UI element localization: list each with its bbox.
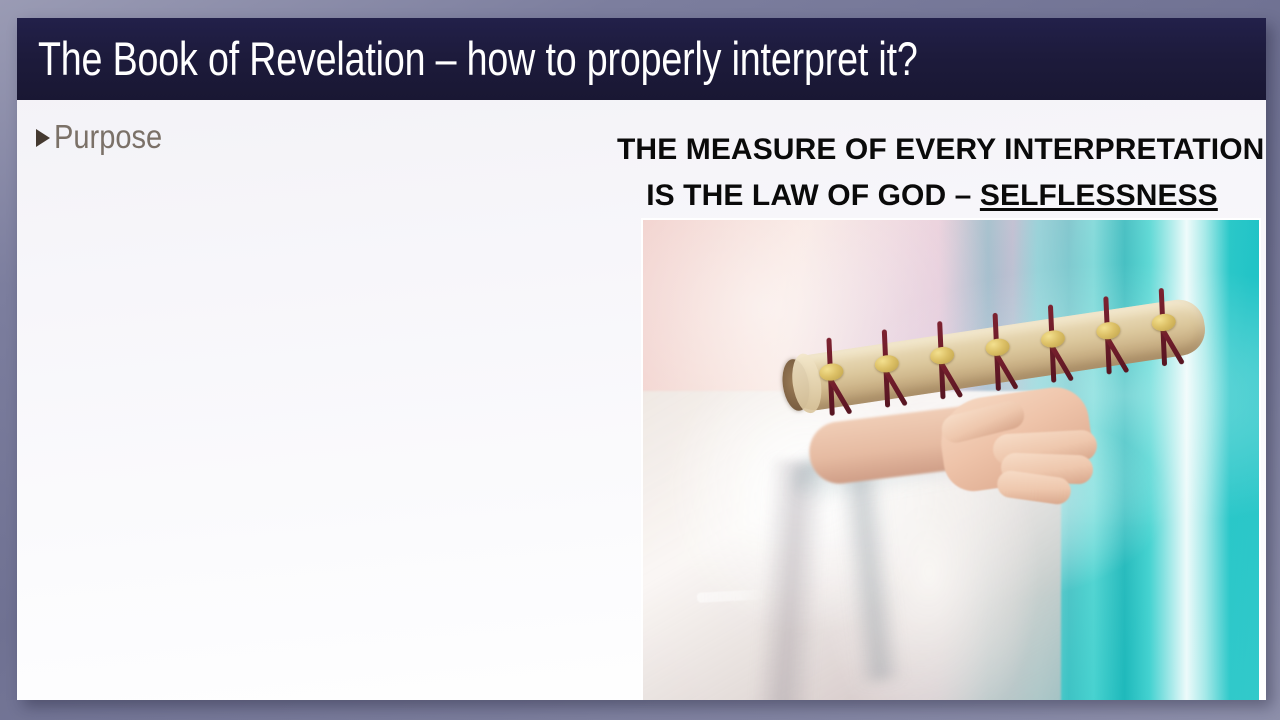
measure-heading-line-2: IS THE LAW OF GOD – SELFLESSNESS bbox=[617, 173, 1247, 219]
slide-canvas: The Book of Revelation – how to properly… bbox=[17, 18, 1266, 700]
presentation-backdrop: The Book of Revelation – how to properly… bbox=[0, 0, 1280, 720]
measure-heading-line-1: THE MEASURE OF EVERY INTERPRETATION bbox=[617, 127, 1247, 173]
bullet-item-label: Purpose bbox=[54, 118, 162, 156]
slide-title-bar: The Book of Revelation – how to properly… bbox=[17, 18, 1266, 100]
measure-heading-line-2-prefix: IS THE LAW OF GOD – bbox=[646, 179, 980, 212]
measure-heading-emphasis: SELFLESSNESS bbox=[980, 179, 1218, 212]
list-item: Purpose bbox=[36, 118, 616, 156]
bullet-list: Purpose bbox=[36, 118, 616, 166]
artwork-image bbox=[641, 218, 1261, 700]
page-title: The Book of Revelation – how to properly… bbox=[38, 24, 918, 94]
measure-heading: THE MEASURE OF EVERY INTERPRETATION IS T… bbox=[617, 127, 1247, 219]
slide-content-area: Purpose THE MEASURE OF EVERY INTERPRETAT… bbox=[17, 100, 1266, 700]
triangle-bullet-icon bbox=[36, 129, 50, 147]
